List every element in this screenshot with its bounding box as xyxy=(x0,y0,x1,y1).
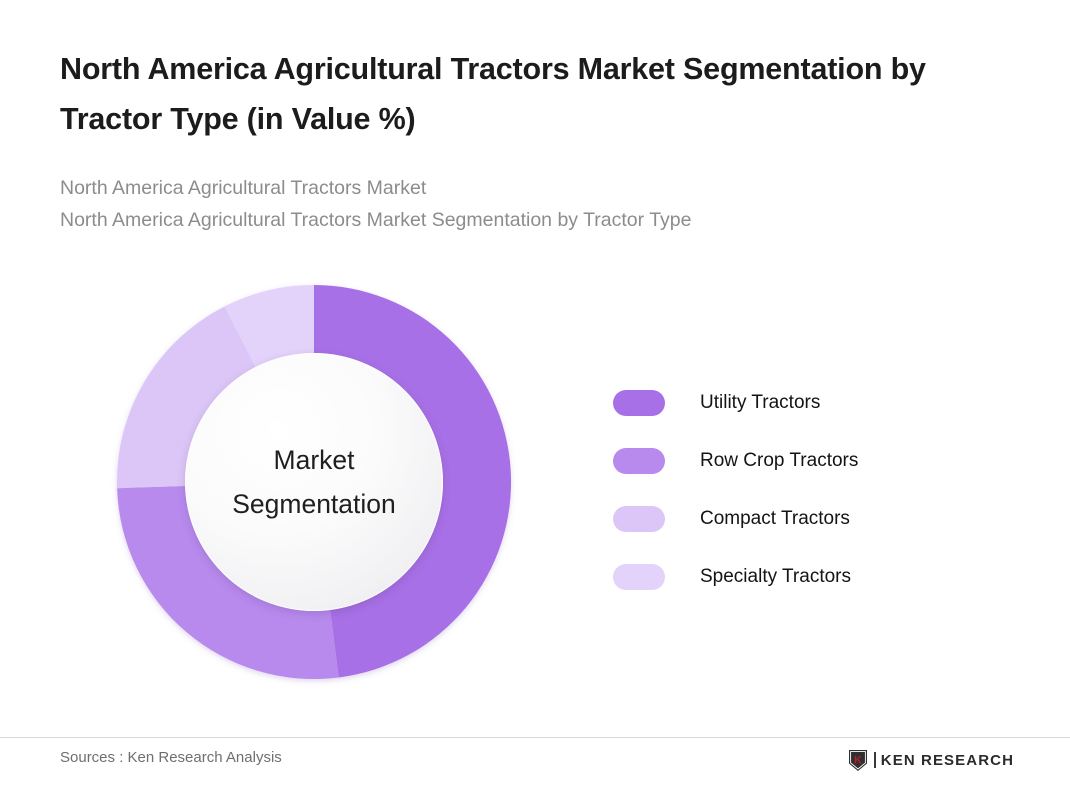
brand-name: KEN RESEARCH xyxy=(881,752,1014,769)
donut-chart: Market Segmentation xyxy=(117,285,511,679)
chart-legend: Utility TractorsRow Crop TractorsCompact… xyxy=(613,374,993,606)
sources-text: Sources : Ken Research Analysis xyxy=(60,749,282,766)
donut-center-line-1: Market xyxy=(274,438,355,482)
slide-canvas: North America Agricultural Tractors Mark… xyxy=(0,0,1070,802)
legend-item-label: Row Crop Tractors xyxy=(700,450,858,472)
subtitle-line-2: North America Agricultural Tractors Mark… xyxy=(60,204,990,236)
legend-swatch xyxy=(613,448,665,474)
ken-research-logo: K KEN RESEARCH xyxy=(848,748,1014,772)
shield-letter: K xyxy=(854,754,862,766)
chart-area: Market Segmentation Utility TractorsRow … xyxy=(0,250,1070,720)
legend-item[interactable]: Specialty Tractors xyxy=(613,548,993,606)
legend-swatch xyxy=(613,390,665,416)
legend-item-label: Specialty Tractors xyxy=(700,566,851,588)
legend-item[interactable]: Utility Tractors xyxy=(613,374,993,432)
legend-swatch xyxy=(613,506,665,532)
legend-item[interactable]: Row Crop Tractors xyxy=(613,432,993,490)
page-title: North America Agricultural Tractors Mark… xyxy=(60,44,1020,144)
brand-divider xyxy=(874,752,876,768)
legend-item-label: Utility Tractors xyxy=(700,392,820,414)
donut-center-label: Market Segmentation xyxy=(185,353,443,611)
legend-swatch xyxy=(613,564,665,590)
shield-icon: K xyxy=(848,749,868,772)
donut-center-line-2: Segmentation xyxy=(232,482,396,526)
legend-item[interactable]: Compact Tractors xyxy=(613,490,993,548)
legend-item-label: Compact Tractors xyxy=(700,508,850,530)
subtitle-block: North America Agricultural Tractors Mark… xyxy=(60,172,990,236)
footer-divider xyxy=(0,737,1070,738)
subtitle-line-1: North America Agricultural Tractors Mark… xyxy=(60,172,990,204)
